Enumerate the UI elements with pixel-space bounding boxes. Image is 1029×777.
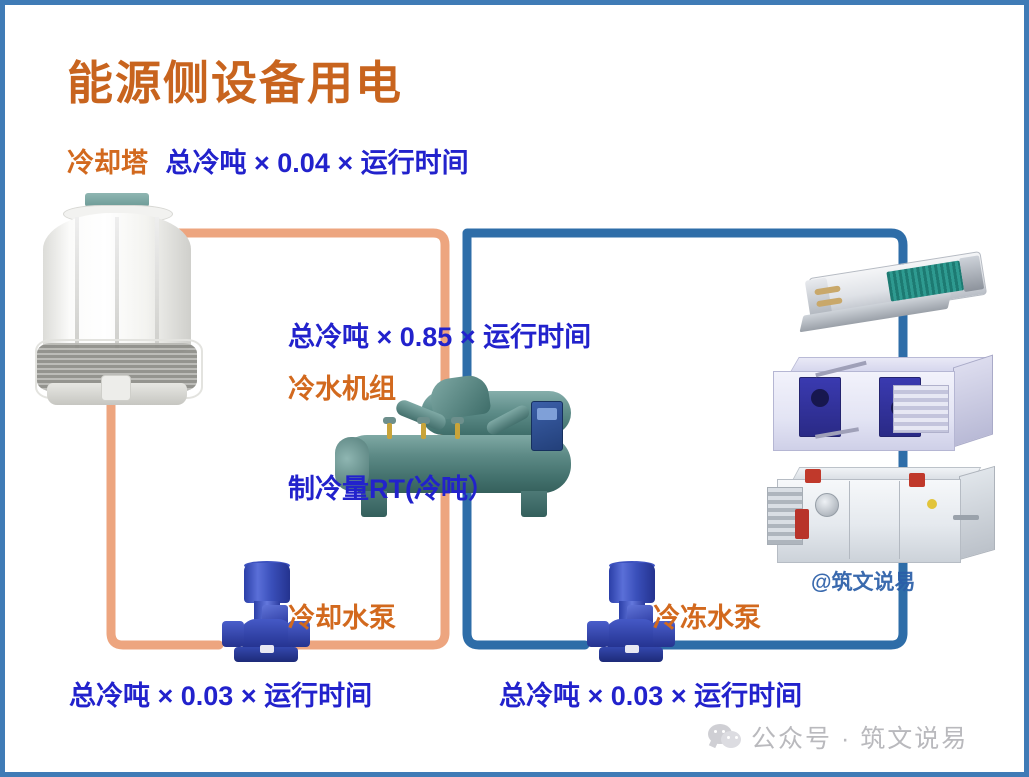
chiller-valve: [421, 423, 426, 439]
footer-watermark: 公众号 · 筑文说易: [708, 719, 968, 755]
footer-watermark-text: 公众号 · 筑文说易: [751, 719, 968, 755]
tower-rib: [155, 217, 159, 349]
diagram-canvas: 能源侧设备用电 冷却塔 总冷吨 × 0.04 × 运行时间 总冷吨 × 0.85…: [0, 0, 1029, 777]
chiller-control-panel: [531, 401, 563, 451]
ahu2-side: [959, 466, 995, 560]
pump-motor: [609, 563, 655, 603]
chiller-formula: 总冷吨 × 0.85 × 运行时间: [288, 315, 591, 354]
ahu2-knob: [927, 499, 937, 509]
chiller-valve: [387, 423, 392, 439]
wechat-icon: [708, 724, 742, 751]
pump-inlet-flange: [222, 621, 244, 647]
pump-motor: [244, 563, 290, 603]
chiller-capacity-label: 制冷量RT(冷吨）: [288, 467, 495, 506]
cooling-tower-annotation: 冷却塔 总冷吨 × 0.04 × 运行时间: [67, 141, 469, 180]
chiller-valve: [455, 423, 460, 439]
tower-outlet-nozzle: [101, 375, 131, 401]
ahu2-control-module: [795, 509, 809, 539]
ahu2-valve: [953, 515, 979, 520]
ahu-louvers: [893, 385, 949, 433]
ahu-fan: [811, 389, 829, 407]
chiller-label: 冷水机组: [288, 367, 396, 406]
ahu2-indicator: [805, 469, 821, 483]
ahu2-indicator: [909, 473, 925, 487]
condenser-water-pump-label: 冷却水泵: [288, 596, 396, 635]
page-title: 能源侧设备用电: [67, 47, 403, 113]
chilled-water-pump-formula: 总冷吨 × 0.03 × 运行时间: [499, 674, 802, 713]
cooling-tower-label: 冷却塔: [67, 148, 148, 178]
pump-inlet-flange: [587, 621, 609, 647]
ahu-access-door: [799, 377, 841, 437]
chilled-water-pump-label: 冷冻水泵: [653, 596, 761, 635]
tower-rib: [75, 217, 79, 349]
ahu2-panel-seam: [849, 481, 850, 559]
condenser-water-pump-formula: 总冷吨 × 0.03 × 运行时间: [69, 674, 372, 713]
cooling-tower-formula: 总冷吨 × 0.04 × 运行时间: [166, 148, 469, 178]
overlay-watermark: @筑文说易: [811, 566, 915, 596]
combined-ahu-icon: [767, 467, 1002, 577]
air-handling-unit-icon: [767, 357, 997, 465]
ahu2-panel-seam: [899, 481, 900, 559]
ahu-side: [953, 355, 993, 448]
cooling-tower-icon: [27, 193, 207, 398]
tower-rib: [115, 217, 119, 349]
fan-coil-unit-icon: [789, 240, 1001, 362]
pump-nameplate: [625, 645, 639, 653]
chiller-support: [521, 491, 547, 517]
pump-nameplate: [260, 645, 274, 653]
ahu2-inspection-port: [815, 493, 839, 517]
